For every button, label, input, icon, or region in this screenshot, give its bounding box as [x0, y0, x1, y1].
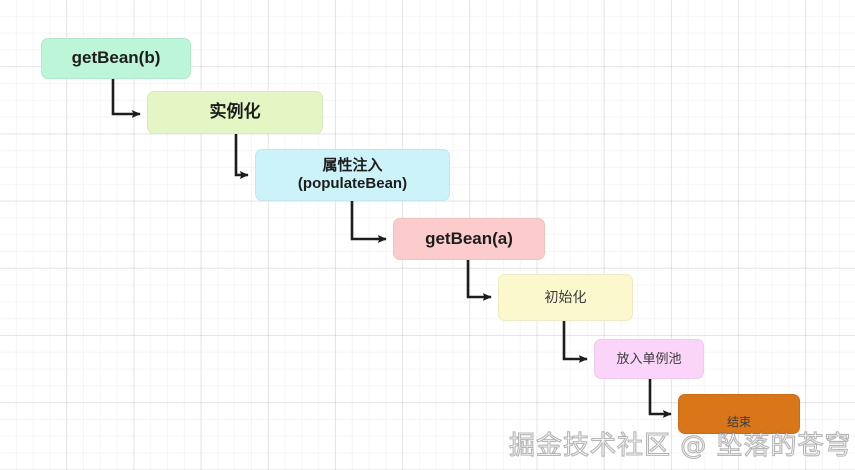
connector-instantiate-to-populate: [236, 134, 248, 175]
node-singleton-pool[interactable]: 放入单例池: [594, 339, 704, 379]
connector-populate-to-getbean-a: [352, 201, 386, 239]
node-init-label: 初始化: [545, 289, 587, 306]
node-singleton-pool-label: 放入单例池: [616, 351, 681, 367]
node-populate-bean[interactable]: 属性注入 (populateBean): [255, 149, 450, 201]
node-getbean-a-label: getBean(a): [425, 229, 513, 250]
node-getbean-a[interactable]: getBean(a): [393, 218, 545, 260]
node-instantiate-label: 实例化: [210, 102, 261, 123]
connector-singleton-pool-to-end: [650, 379, 671, 414]
node-populate-bean-label: 属性注入 (populateBean): [298, 157, 407, 194]
node-instantiate[interactable]: 实例化: [147, 91, 323, 134]
node-getbean-b-label: getBean(b): [72, 48, 161, 69]
node-end-label: 结束: [727, 415, 751, 430]
diagram-canvas: getBean(b) 实例化 属性注入 (populateBean) getBe…: [0, 0, 855, 470]
node-getbean-b[interactable]: getBean(b): [41, 38, 191, 79]
node-end[interactable]: 结束: [678, 394, 800, 434]
connector-getbean-b-to-instantiate: [113, 79, 140, 114]
connector-getbean-a-to-init: [468, 260, 491, 297]
node-init[interactable]: 初始化: [498, 274, 633, 321]
connector-init-to-singleton-pool: [564, 321, 587, 359]
